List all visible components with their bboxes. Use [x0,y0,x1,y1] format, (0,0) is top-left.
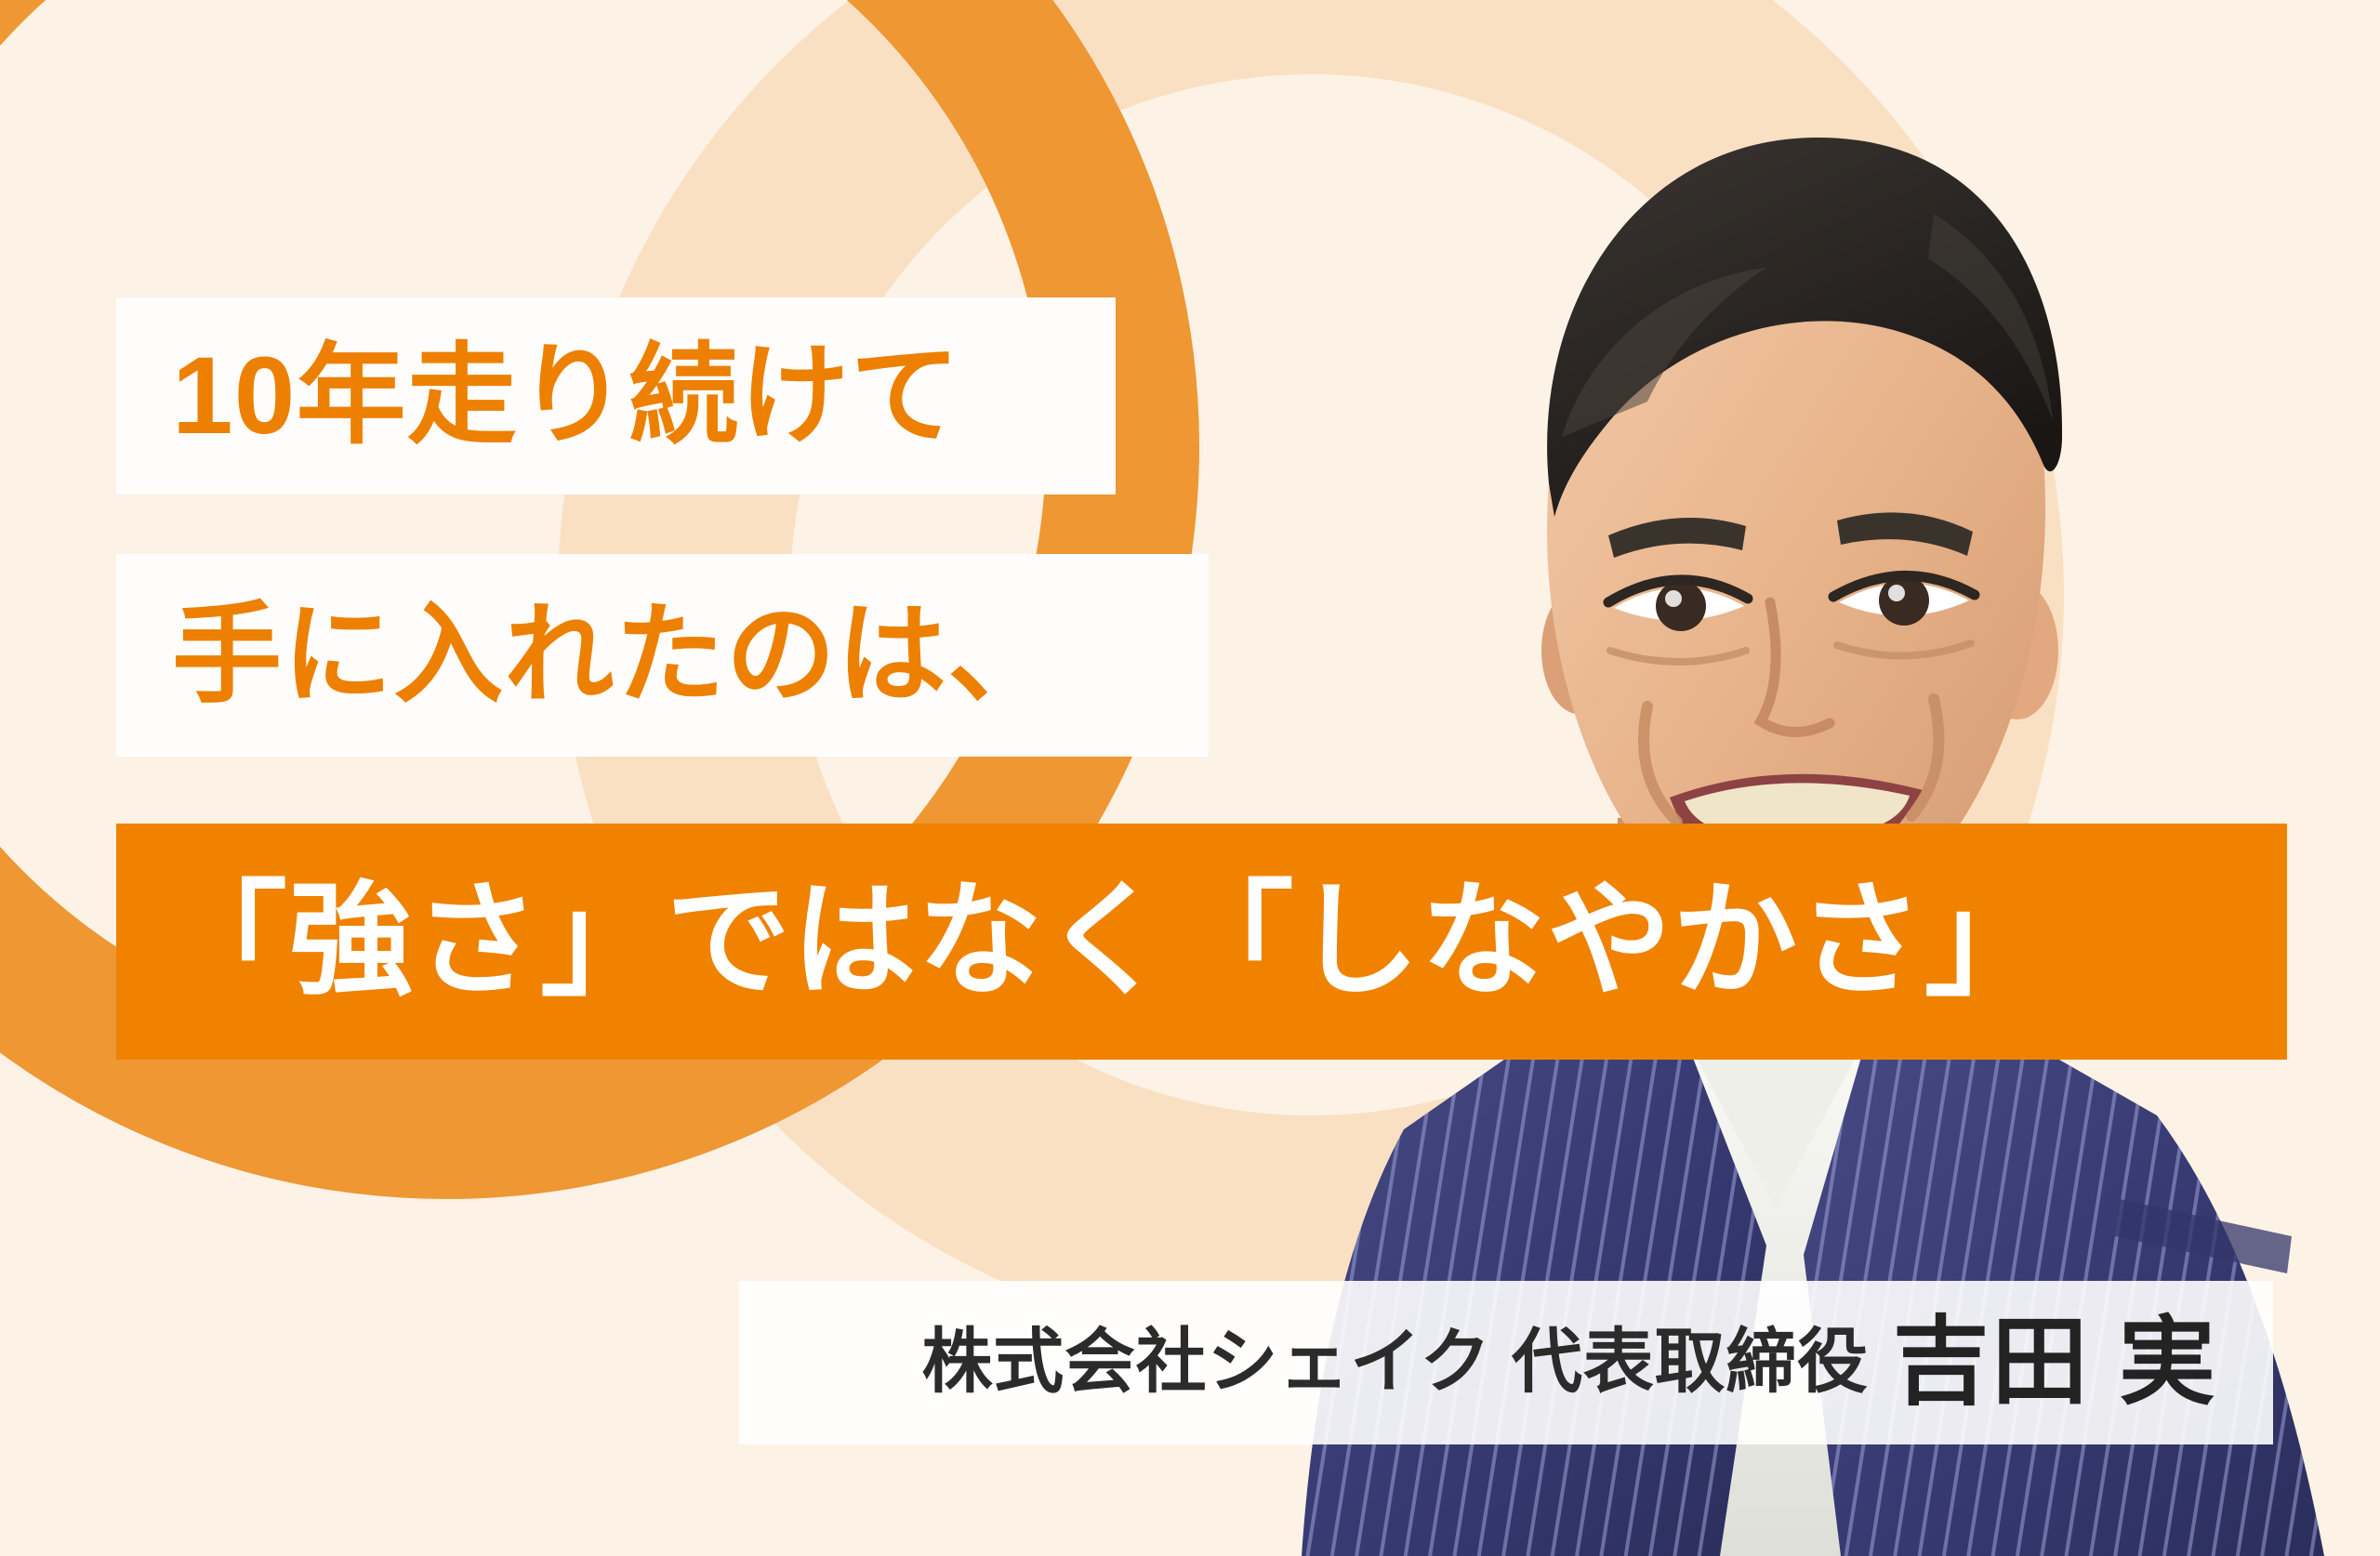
headline-line-2-text: 手に入れたのは、 [172,600,1058,710]
headline-line-1-box: 10年走り続けて [116,297,1116,494]
headline-line-3-band: 「強さ」ではなく「しなやかさ」 [116,824,2287,1060]
credit-affiliation: 株式会社シェイク 代表取締役 [922,1327,1869,1398]
credit-person-name: 吉田 実 [1893,1314,2217,1411]
headline-line-1-text: 10年走り続けて [172,341,961,451]
headline-line-3-text: 「強さ」ではなく「しなやかさ」 [163,879,2050,1004]
article-hero-banner: 10年走り続けて 手に入れたのは、 「強さ」ではなく「しなやかさ」 株式会社シェ… [0,0,2380,1556]
credit-bar: 株式会社シェイク 代表取締役 吉田 実 [739,1281,2273,1444]
headline-line-2-box: 手に入れたのは、 [116,554,1209,757]
